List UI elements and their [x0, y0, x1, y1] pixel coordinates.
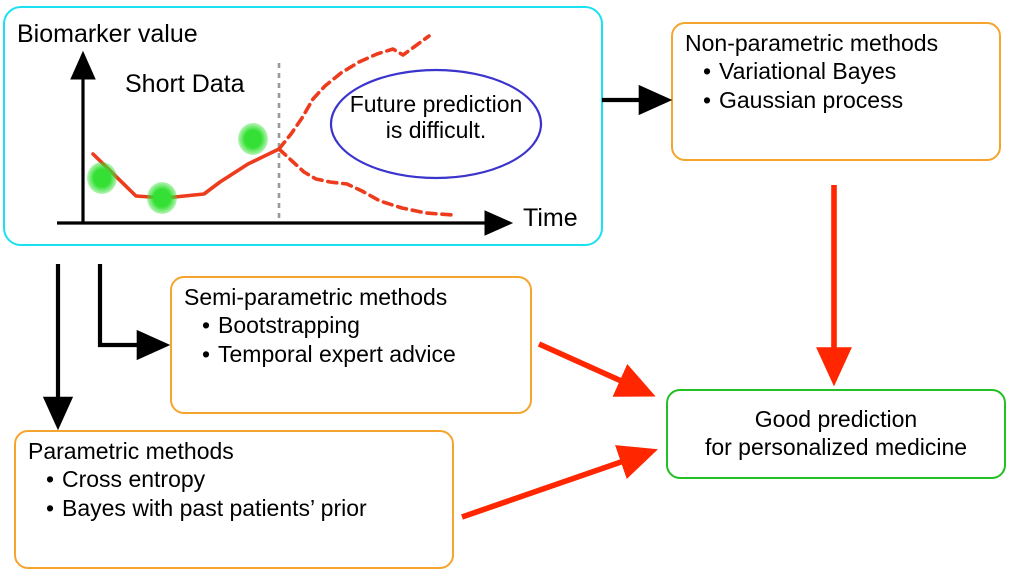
x-axis-label: Time	[523, 206, 578, 231]
list-item: • Bayes with past patients’ prior	[46, 494, 442, 523]
list-item-label: Cross entropy	[62, 466, 205, 492]
list-item-label: Bootstrapping	[218, 312, 360, 338]
semiparametric-methods-box[interactable]: Semi-parametric methods • Bootstrapping …	[170, 276, 532, 414]
y-axis-label: Biomarker value	[17, 22, 198, 47]
parametric-list: • Cross entropy • Bayes with past patien…	[28, 465, 442, 523]
nonparametric-list: • Variational Bayes • Gaussian process	[685, 57, 989, 115]
semiparametric-title: Semi-parametric methods	[184, 284, 520, 311]
lower-forecast-curve	[279, 149, 453, 215]
list-item: • Gaussian process	[703, 86, 989, 115]
measurement-dot	[147, 182, 177, 214]
good-prediction-text: Good prediction for personalized medicin…	[705, 406, 967, 461]
list-item: • Variational Bayes	[703, 57, 989, 86]
diagram-canvas: Biomarker value Time Short Data Future p…	[0, 0, 1015, 582]
bullet-icon: •	[202, 311, 210, 340]
arrow-semiparametric-to-good	[539, 344, 648, 393]
bullet-icon: •	[703, 86, 711, 115]
chart-panel: Biomarker value Time Short Data Future p…	[3, 6, 603, 246]
list-item-label: Temporal expert advice	[218, 341, 456, 367]
short-data-annotation: Short Data	[125, 70, 245, 99]
callout-line-1: Future prediction	[343, 92, 529, 118]
arrow-parametric-to-good	[462, 452, 650, 517]
parametric-title: Parametric methods	[28, 438, 442, 465]
good-prediction-box[interactable]: Good prediction for personalized medicin…	[666, 389, 1006, 479]
bullet-icon: •	[202, 340, 210, 369]
measurement-dot	[238, 123, 268, 155]
list-item-label: Variational Bayes	[719, 58, 896, 84]
arrow-chart-to-semiparametric	[100, 264, 164, 345]
bullet-icon: •	[46, 465, 54, 494]
parametric-methods-box[interactable]: Parametric methods • Cross entropy • Bay…	[14, 430, 454, 569]
nonparametric-methods-box[interactable]: Non-parametric methods • Variational Bay…	[671, 22, 1001, 161]
list-item-label: Gaussian process	[719, 87, 903, 113]
nonparametric-title: Non-parametric methods	[685, 30, 989, 57]
list-item-label: Bayes with past patients’ prior	[62, 495, 367, 521]
future-prediction-callout-text: Future predictionis difficult.	[343, 92, 529, 144]
list-item: • Bootstrapping	[202, 311, 520, 340]
semiparametric-list: • Bootstrapping • Temporal expert advice	[184, 311, 520, 369]
list-item: • Cross entropy	[46, 465, 442, 494]
bullet-icon: •	[46, 494, 54, 523]
observed-trajectory-line	[93, 149, 279, 198]
list-item: • Temporal expert advice	[202, 340, 520, 369]
callout-line-2: is difficult.	[343, 118, 529, 144]
measurement-dot	[87, 162, 117, 194]
bullet-icon: •	[703, 57, 711, 86]
